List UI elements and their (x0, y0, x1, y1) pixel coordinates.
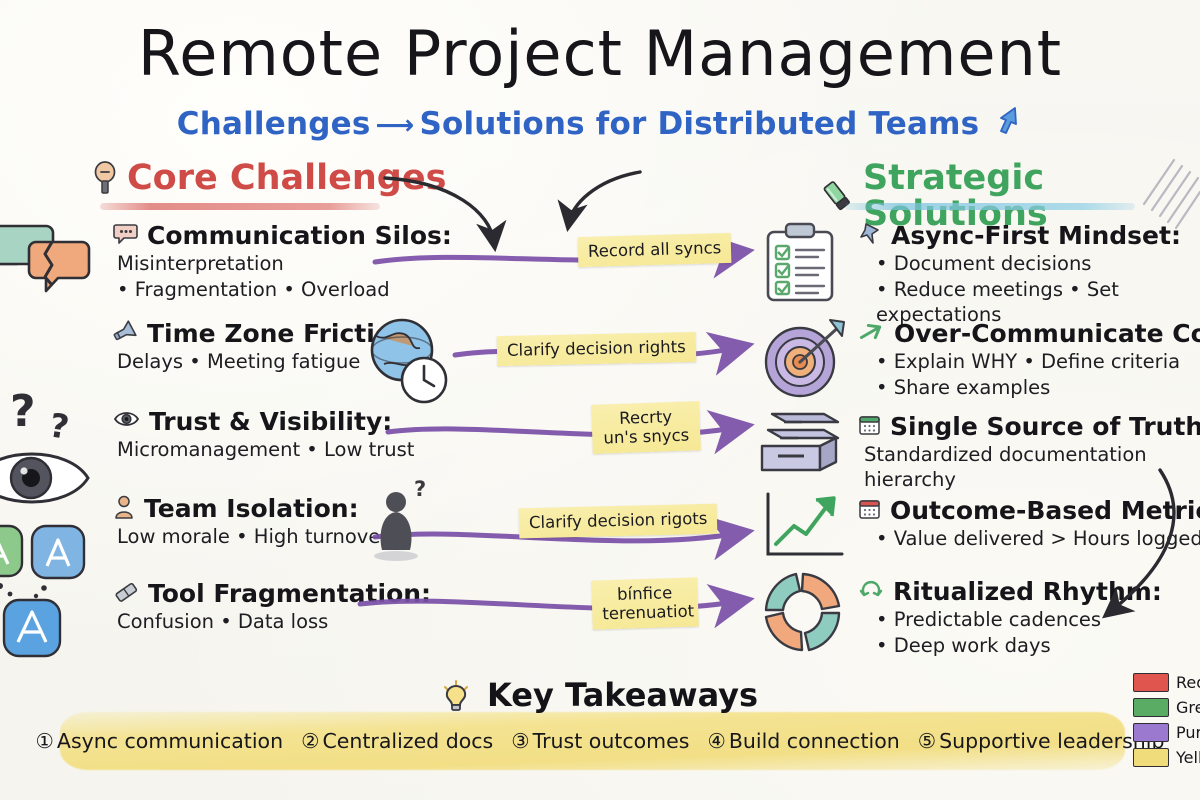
target-dartboard-illustration (760, 318, 846, 400)
takeaway-text-3: Trust outcomes (533, 729, 690, 753)
lightbulb-icon (442, 676, 481, 714)
legend-row-yellow: Yello (1133, 748, 1200, 767)
legend-swatch-purple (1133, 723, 1169, 742)
legend-label-yellow: Yello (1176, 749, 1200, 766)
legend-label-purple: Purp (1176, 724, 1200, 741)
connector-label-5-line-2: terenuatiot (602, 602, 689, 624)
takeaway-item-4: ④Build connection (707, 729, 899, 753)
takeaway-text-1: Async communication (57, 729, 283, 753)
connector-label-1: Record all syncs (578, 233, 732, 267)
takeaway-item-1: ①Async communication (36, 729, 284, 753)
takeaway-item-2: ②Centralized docs (301, 729, 493, 753)
key-takeaways-title: Key Takeaways (0, 678, 1200, 712)
legend-row-green: Gree (1133, 698, 1200, 717)
whiteboard-canvas: Remote Project Management Challenges⟶Sol… (0, 0, 1200, 800)
takeaway-number-3: ③ (511, 729, 529, 753)
takeaway-text-4: Build connection (729, 729, 900, 753)
file-cabinet-illustration (758, 404, 850, 476)
app-icon-tiles-illustration (0, 510, 90, 670)
legend-swatch-green (1133, 698, 1169, 717)
growth-chart-illustration (760, 490, 850, 562)
color-legend: Red= Gree Purp Yello (1133, 673, 1200, 773)
takeaway-text-2: Centralized docs (322, 729, 493, 753)
globe-clock-illustration (358, 312, 454, 408)
legend-swatch-red (1133, 673, 1169, 692)
broken-speech-bubbles-illustration (0, 210, 108, 320)
legend-swatch-yellow (1133, 748, 1169, 767)
hatch-marks-decoration (1140, 158, 1200, 278)
takeaway-text-5: Supportive leadership (939, 729, 1164, 753)
takeaway-item-5: ⑤Supportive leadership (918, 729, 1165, 753)
top-curved-arrow-left (385, 178, 494, 242)
connector-label-5: bínfice terenuatiot (591, 577, 698, 629)
legend-row-purple: Purp (1133, 723, 1200, 742)
takeaway-number-1: ① (36, 729, 54, 753)
takeaway-number-4: ④ (707, 729, 725, 753)
lonely-person-illustration: ? (362, 478, 452, 564)
clipboard-checklist-illustration (762, 222, 842, 304)
legend-row-red: Red= (1133, 673, 1200, 692)
right-loop-arrow (1110, 470, 1174, 612)
key-takeaways-list: ①Async communication②Centralized docs③Tr… (0, 728, 1200, 754)
connector-label-4: Clarify decision rigots (519, 504, 718, 539)
cycle-arrows-illustration (760, 570, 846, 656)
connector-label-3-line-2: un's snycs (602, 425, 691, 447)
takeaway-number-2: ② (301, 729, 319, 753)
takeaway-item-3: ③Trust outcomes (511, 729, 689, 753)
connector-label-3: Recrty un's snycs (591, 401, 701, 454)
takeaway-number-5: ⑤ (918, 729, 936, 753)
legend-label-green: Gree (1176, 699, 1200, 716)
legend-label-red: Red= (1176, 674, 1200, 691)
connector-label-2: Clarify decision rights (497, 332, 696, 366)
key-takeaways-label: Key Takeaways (487, 676, 758, 714)
eye-illustration (0, 430, 90, 516)
top-curved-arrow-right (569, 172, 640, 222)
svg-text:?: ? (414, 477, 426, 501)
